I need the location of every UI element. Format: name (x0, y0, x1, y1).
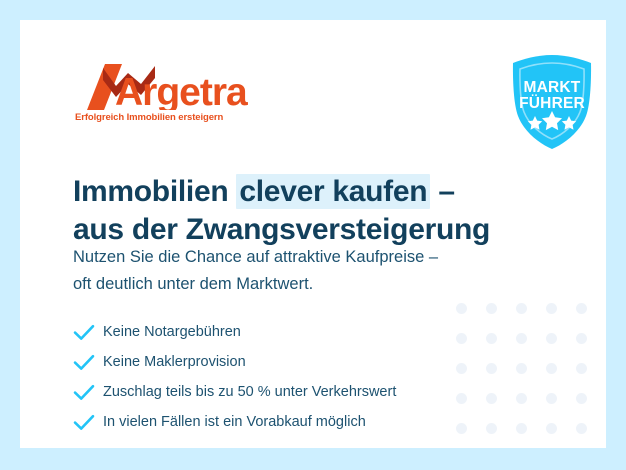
decorative-dot (456, 303, 467, 314)
headline-part-after: – (430, 175, 454, 208)
decorative-dot (546, 393, 557, 404)
decorative-dot (546, 333, 557, 344)
markt-fuehrer-badge: MARKT FÜHRER (509, 54, 595, 150)
argetra-logo[interactable]: Argetra Erfolgreich Immobilien ersteiger… (75, 64, 260, 126)
check-icon (73, 382, 99, 402)
decorative-dot (576, 363, 587, 374)
subtitle-line-1: Nutzen Sie die Chance auf attraktive Kau… (73, 244, 563, 271)
list-item: Keine Maklerprovision (73, 347, 543, 377)
benefits-list: Keine NotargebührenKeine Maklerprovision… (73, 317, 543, 437)
page-title: Immobilien clever kaufen – aus der Zwang… (73, 173, 573, 249)
headline-part-before: Immobilien (73, 175, 236, 208)
svg-text:Argetra: Argetra (115, 71, 248, 110)
promo-card: Argetra Erfolgreich Immobilien ersteiger… (20, 20, 606, 448)
subtitle: Nutzen Sie die Chance auf attraktive Kau… (73, 244, 563, 298)
headline-highlight: clever kaufen (236, 174, 430, 209)
decorative-dot (576, 333, 587, 344)
list-item-label: In vielen Fällen ist ein Vorabkauf mögli… (99, 414, 366, 430)
badge-line2: FÜHRER (519, 95, 585, 112)
argetra-logo-mark: Argetra (75, 64, 260, 110)
decorative-dot (516, 303, 527, 314)
check-icon (73, 352, 99, 372)
subtitle-line-2: oft deutlich unter dem Marktwert. (73, 271, 563, 298)
decorative-dot (546, 303, 557, 314)
decorative-dot (546, 423, 557, 434)
list-item-label: Keine Notargebühren (99, 324, 241, 340)
decorative-dot (576, 303, 587, 314)
logo-tagline: Erfolgreich Immobilien ersteigern (75, 112, 223, 123)
list-item-label: Keine Maklerprovision (99, 354, 246, 370)
list-item-label: Zuschlag teils bis zu 50 % unter Verkehr… (99, 384, 396, 400)
list-item: Zuschlag teils bis zu 50 % unter Verkehr… (73, 377, 543, 407)
badge-line1: MARKT (524, 79, 581, 96)
decorative-dot (576, 423, 587, 434)
decorative-dot (486, 303, 497, 314)
headline-line-1: Immobilien clever kaufen – (73, 173, 573, 211)
check-icon (73, 412, 99, 432)
list-item: In vielen Fällen ist ein Vorabkauf mögli… (73, 407, 543, 437)
decorative-dot (576, 393, 587, 404)
decorative-dot (546, 363, 557, 374)
list-item: Keine Notargebühren (73, 317, 543, 347)
check-icon (73, 322, 99, 342)
